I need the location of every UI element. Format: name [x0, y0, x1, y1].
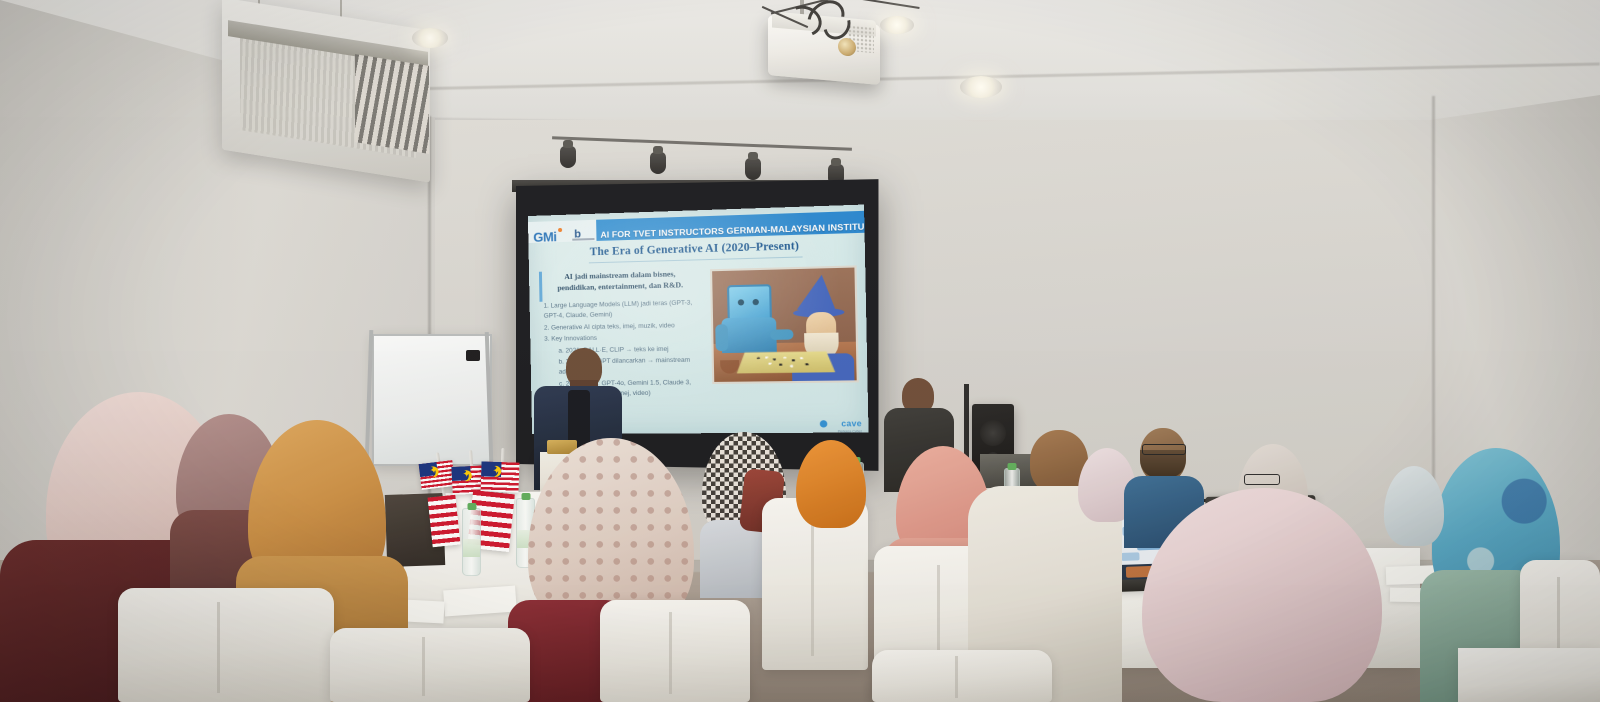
- go-stone: [756, 357, 760, 359]
- speaker-cone: [980, 420, 1006, 446]
- gmi-logo: GMi: [533, 229, 557, 245]
- paper-handout: [443, 586, 517, 617]
- go-stone: [779, 364, 783, 367]
- downlight: [960, 76, 1002, 98]
- robot-body: [721, 317, 776, 353]
- slide-illustration: [710, 265, 859, 384]
- track-spotlight: [745, 158, 761, 180]
- go-stone: [790, 365, 794, 368]
- go-stone: [783, 357, 787, 359]
- robot-eye: [738, 299, 744, 305]
- gmi-logo-dot: [558, 228, 562, 232]
- slide-lead-text: AI jadi mainstream dalam bisnes, pendidi…: [545, 268, 696, 295]
- go-board: [737, 351, 835, 373]
- go-stone: [765, 356, 769, 358]
- go-stone: [792, 359, 796, 361]
- slide-bullet: 1. Large Language Models (LLM) jadi tera…: [543, 298, 706, 322]
- downlight: [412, 28, 448, 48]
- water-bottle: [462, 508, 481, 576]
- secondary-logo-underline: [572, 238, 594, 241]
- eyeglasses-icon: [1142, 444, 1186, 455]
- track-spotlight: [650, 152, 666, 174]
- air-conditioner-vent: [355, 54, 429, 154]
- flag-star-icon: ✦: [462, 470, 471, 479]
- malaysian-flag: ✦: [480, 461, 519, 492]
- flag-stripes: [427, 495, 460, 548]
- bottle-cap: [467, 503, 476, 510]
- slide-header-text: AI FOR TVET INSTRUCTORS GERMAN-MALAYSIAN…: [600, 221, 868, 240]
- slide-header-banner: GMi b AI FOR TVET INSTRUCTORS GERMAN-MAL…: [528, 211, 865, 243]
- go-stone: [773, 358, 777, 360]
- slide-accent-bar: [539, 272, 543, 302]
- bottle-cap: [521, 493, 530, 500]
- malaysian-flag: [427, 495, 460, 548]
- cave-logo-mark: [820, 420, 828, 427]
- eyeglasses-icon: [1244, 474, 1280, 485]
- whiteboard-eraser: [466, 350, 480, 361]
- malaysian-flag: ✦: [419, 460, 456, 490]
- robot-eye: [752, 299, 758, 305]
- flag-star-icon: ✦: [492, 467, 501, 476]
- chair: [118, 588, 334, 702]
- go-stone: [768, 362, 772, 364]
- bottle-label: [463, 539, 480, 556]
- slide-title-rule: [589, 256, 803, 263]
- chair: [330, 628, 530, 702]
- whiteboard: [372, 334, 492, 466]
- chair: [872, 650, 1052, 702]
- flag-star-icon: ✦: [429, 466, 439, 476]
- go-stone: [805, 363, 809, 366]
- robot-arm: [715, 324, 728, 351]
- downlight: [880, 16, 914, 34]
- track-spotlight: [560, 146, 576, 168]
- go-stone: [800, 357, 804, 359]
- cave-logo: cave: [841, 419, 862, 429]
- chair: [600, 600, 750, 702]
- diagram-node: [1121, 552, 1139, 561]
- training-room-photo: GMi b AI FOR TVET INSTRUCTORS GERMAN-MAL…: [0, 0, 1600, 702]
- conference-table-far-right: [1458, 648, 1600, 702]
- robot-arm: [770, 329, 794, 340]
- bottle-cap: [1008, 463, 1017, 470]
